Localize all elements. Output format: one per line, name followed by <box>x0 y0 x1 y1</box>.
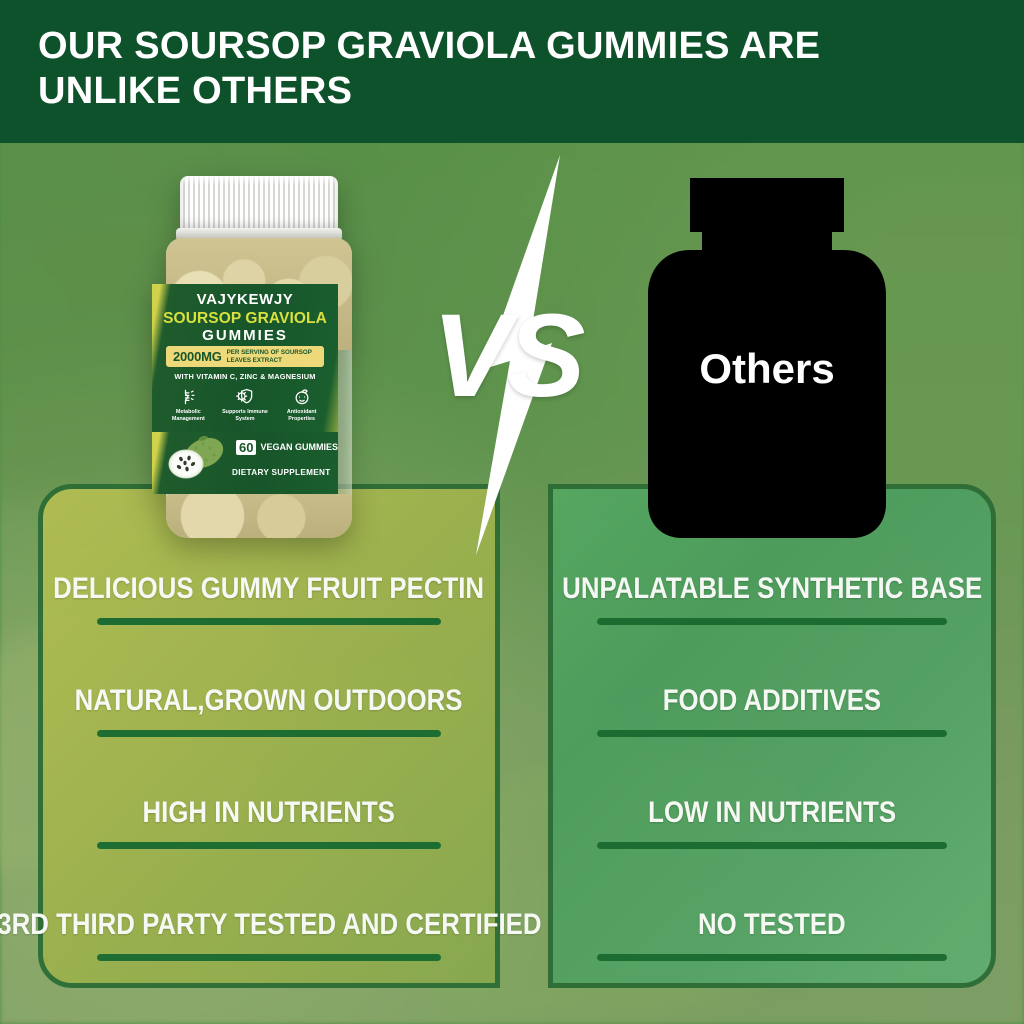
benefit-item-antioxidant: Antioxidant Properties <box>276 385 328 423</box>
dose-amount: 2000MG <box>166 349 222 364</box>
row-divider <box>597 618 946 625</box>
list-item: NATURAL,GROWN OUTDOORS <box>43 625 495 737</box>
bottle-jar-base <box>166 494 352 538</box>
list-item: HIGH IN NUTRIENTS <box>43 737 495 849</box>
gummies-fill-bottom <box>166 494 352 538</box>
list-item: 3RD THIRD PARTY TESTED AND CERTIFIED <box>43 849 495 961</box>
vs-label: VS <box>432 288 581 424</box>
ours-item-label: NATURAL,GROWN OUTDOORS <box>75 685 463 717</box>
shield-virus-icon <box>219 385 271 408</box>
row-divider <box>97 730 441 737</box>
list-item: NO TESTED <box>553 849 991 961</box>
page-title: OUR SOURSOP GRAVIOLA GUMMIES ARE UNLIKE … <box>38 24 968 114</box>
row-divider <box>597 730 946 737</box>
supplement-line: DIETARY SUPPLEMENT <box>232 468 331 477</box>
theirs-rows: UNPALATABLE SYNTHETIC BASE FOOD ADDITIVE… <box>553 489 991 983</box>
ours-rows: DELICIOUS GUMMY FRUIT PECTIN NATURAL,GRO… <box>43 489 495 983</box>
bottle-label-bottom: 60 VEGAN GUMMIES DIETARY SUPPLEMENT <box>152 432 338 494</box>
row-divider <box>597 842 946 849</box>
benefit-label: Supports Immune System <box>219 409 271 423</box>
with-vitamins-line: WITH VITAMIN C, ZINC & MAGNESIUM <box>152 372 338 381</box>
product-comparison-poster: OUR SOURSOP GRAVIOLA GUMMIES ARE UNLIKE … <box>0 0 1024 1024</box>
gummy-count: 60 <box>236 440 256 455</box>
theirs-item-label: NO TESTED <box>698 909 846 941</box>
bottle-label: VAJYKEWJY SOURSOP GRAVIOLA GUMMIES 2000M… <box>152 284 338 439</box>
row-divider <box>97 842 441 849</box>
list-item: LOW IN NUTRIENTS <box>553 737 991 849</box>
theirs-item-label: UNPALATABLE SYNTHETIC BASE <box>562 573 982 605</box>
benefit-label: Metabolic Management <box>162 409 214 423</box>
header-banner: OUR SOURSOP GRAVIOLA GUMMIES ARE UNLIKE … <box>0 0 1024 143</box>
benefit-label: Antioxidant Properties <box>276 409 328 423</box>
bottle-cap <box>180 176 338 232</box>
row-divider <box>597 954 946 961</box>
comparison-panel-theirs: UNPALATABLE SYNTHETIC BASE FOOD ADDITIVE… <box>548 484 996 988</box>
product-bottle: VAJYKEWJY SOURSOP GRAVIOLA GUMMIES 2000M… <box>152 176 366 544</box>
gummy-count-unit: VEGAN GUMMIES <box>256 443 338 453</box>
gummy-count-row: 60 VEGAN GUMMIES <box>236 440 338 455</box>
others-label: Others <box>648 345 886 393</box>
comparison-panel-ours: DELICIOUS GUMMY FRUIT PECTIN NATURAL,GRO… <box>38 484 500 988</box>
ours-item-label: HIGH IN NUTRIENTS <box>143 797 395 829</box>
dose-detail: PER SERVING OF SOURSOP LEAVES EXTRACT <box>222 349 324 365</box>
list-item: FOOD ADDITIVES <box>553 625 991 737</box>
row-divider <box>97 954 441 961</box>
ours-item-label: 3RD THIRD PARTY TESTED AND CERTIFIED <box>0 909 541 941</box>
benefit-item-immune: Supports Immune System <box>219 385 271 423</box>
theirs-item-label: FOOD ADDITIVES <box>663 685 881 717</box>
ours-item-label: DELICIOUS GUMMY FRUIT PECTIN <box>54 573 485 605</box>
product-subtitle: GUMMIES <box>152 327 338 344</box>
soursop-fruit-icon <box>158 434 232 489</box>
row-divider <box>97 618 441 625</box>
face-glow-icon <box>276 385 328 408</box>
product-name: SOURSOP GRAVIOLA <box>152 310 338 328</box>
benefit-icons-row: Metabolic Management Supports Immune Sys… <box>160 385 330 423</box>
brand-name: VAJYKEWJY <box>152 291 338 308</box>
benefit-item-metabolic: Metabolic Management <box>162 385 214 423</box>
stomach-icon <box>162 385 214 408</box>
dose-band: 2000MG PER SERVING OF SOURSOP LEAVES EXT… <box>166 346 324 367</box>
theirs-item-label: LOW IN NUTRIENTS <box>648 797 896 829</box>
